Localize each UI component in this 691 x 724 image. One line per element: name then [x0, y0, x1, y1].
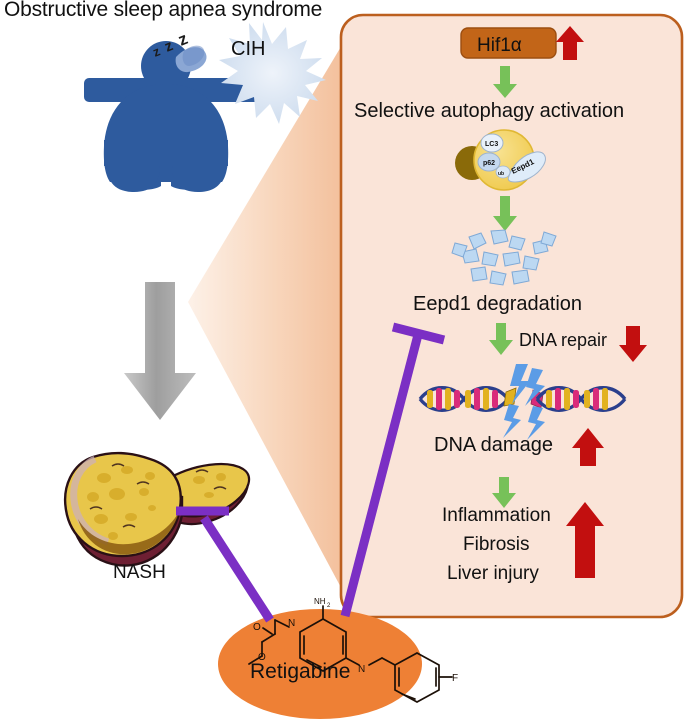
cih-label: CIH: [231, 38, 265, 61]
svg-text:O: O: [253, 622, 261, 633]
dna-damage-label: DNA damage: [434, 434, 553, 457]
hif1a-label: Hif1α: [477, 35, 522, 57]
svg-text:N: N: [288, 618, 295, 629]
nash-label: NASH: [113, 562, 166, 584]
outcome-fibrosis-label: Fibrosis: [463, 534, 530, 556]
retigabine-label: Retigabine: [250, 660, 350, 684]
eepd1-degradation-label: Eepd1 degradation: [413, 293, 582, 316]
progression-arrow: [124, 282, 196, 420]
selective-autophagy-activation-label: Selective autophagy activation: [354, 100, 624, 123]
page-title: Obstructive sleep apnea syndrome: [4, 0, 322, 22]
svg-text:LC3: LC3: [485, 141, 498, 148]
svg-text:NH: NH: [314, 597, 326, 606]
diagram-canvas: z z z: [0, 0, 691, 724]
svg-text:F: F: [452, 673, 458, 684]
dna-repair-label: DNA repair: [519, 330, 607, 351]
outcome-inflammation-label: Inflammation: [442, 505, 551, 527]
svg-text:p62: p62: [483, 160, 495, 167]
svg-text:2: 2: [327, 603, 331, 609]
inhibitor-retigabine-to-nash: [176, 511, 270, 620]
svg-text:ub: ub: [498, 171, 504, 177]
outcome-liver-injury-label: Liver injury: [447, 563, 539, 585]
svg-text:N: N: [358, 664, 365, 675]
